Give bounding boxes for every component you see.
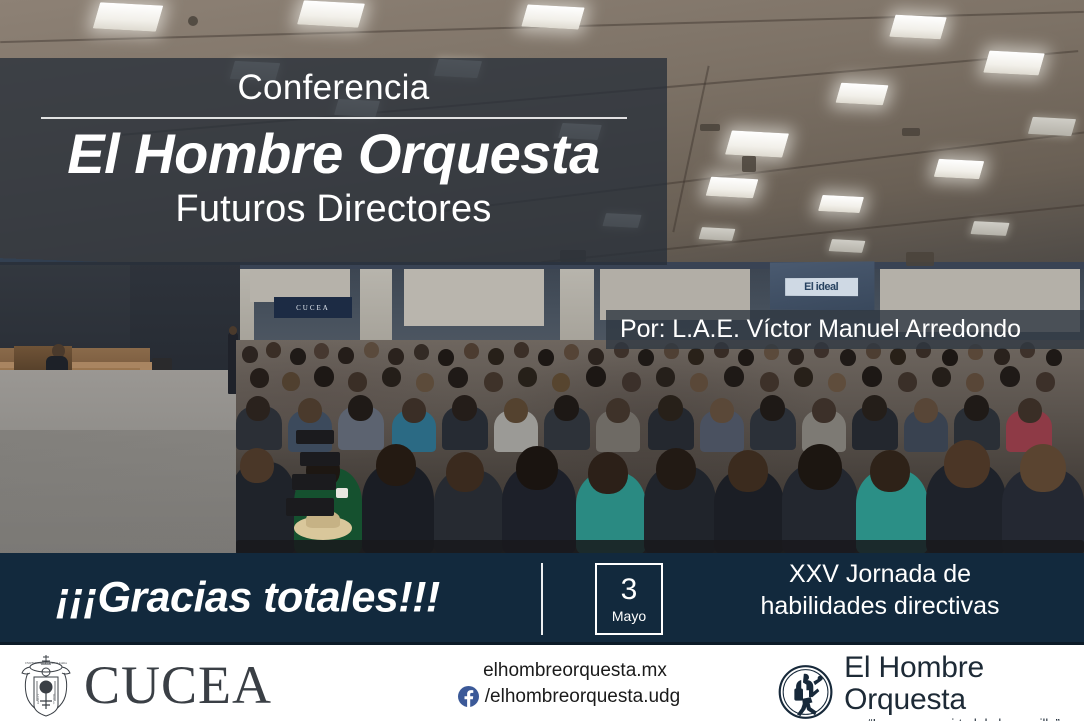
- footer: UNIVERSIDAD DE GUADALAJARA PIENSA Y TRAB…: [0, 648, 1084, 721]
- chair: [300, 452, 340, 466]
- conference-kicker: Conferencia: [237, 68, 429, 108]
- audience-head: [464, 343, 479, 359]
- audience-head: [554, 395, 579, 421]
- chair: [286, 498, 334, 516]
- ceiling-light: [1028, 117, 1076, 136]
- audience-head: [828, 373, 846, 392]
- audience-head: [932, 367, 951, 387]
- audience-head: [1020, 444, 1066, 492]
- title-divider-rule: [41, 117, 627, 119]
- audience-head: [724, 366, 744, 387]
- audience-head: [812, 398, 836, 423]
- audience-head: [438, 349, 454, 366]
- chair: [292, 474, 336, 490]
- audience-head: [338, 347, 354, 364]
- audience-head: [588, 348, 604, 365]
- audience-head: [514, 342, 529, 358]
- audience-head: [942, 349, 958, 366]
- website-url[interactable]: elhombreorquesta.mx: [404, 658, 734, 684]
- audience-head: [246, 396, 270, 421]
- audience-head: [586, 366, 606, 387]
- audience-head: [250, 368, 269, 388]
- ceiling-light: [725, 130, 789, 157]
- brand-tagline: “La suprema virtud de lo sencillo”: [844, 716, 1084, 721]
- ceiling-fixture: [902, 128, 920, 136]
- audience-head: [964, 395, 989, 421]
- ceiling-light: [889, 15, 947, 40]
- audience-head: [898, 372, 917, 392]
- audience-head: [552, 373, 570, 392]
- conference-poster: El ideal ▪▪ CUCEA El ideal: [0, 0, 1084, 721]
- audience-head: [738, 349, 754, 366]
- event-date-box: 3 Mayo: [595, 563, 663, 635]
- ceiling-light: [835, 83, 888, 106]
- speaker-credit-bar: Por: L.A.E. Víctor Manuel Arredondo: [606, 310, 1084, 349]
- audience-head: [564, 344, 579, 360]
- audience-head: [606, 398, 630, 423]
- hall-cucea-banner: CUCEA: [274, 297, 352, 318]
- facebook-icon[interactable]: [458, 686, 479, 707]
- svg-text:UNIVERSIDAD DE GUADALAJARA: UNIVERSIDAD DE GUADALAJARA: [25, 662, 67, 665]
- audience-head: [1046, 349, 1062, 366]
- cucea-logo: UNIVERSIDAD DE GUADALAJARA PIENSA Y TRAB…: [16, 653, 272, 717]
- audience-head: [448, 367, 468, 388]
- ceiling-light: [934, 159, 984, 179]
- contact-group: elhombreorquesta.mx /elhombreorquesta.ud…: [404, 658, 734, 708]
- audience-head: [266, 342, 281, 358]
- ceiling-projector: [742, 156, 756, 172]
- audience-head: [298, 398, 322, 423]
- audience-head: [688, 348, 704, 365]
- audience-head: [1036, 372, 1055, 392]
- audience-head: [452, 395, 477, 421]
- ceiling-light: [521, 4, 584, 29]
- title-overlay-panel: Conferencia El Hombre Orquesta Futuros D…: [0, 58, 667, 265]
- conference-title: El Hombre Orquesta: [67, 123, 599, 186]
- audience-head: [290, 348, 306, 365]
- ceiling-light: [699, 227, 736, 241]
- brand-text: El Hombre Orquesta “La suprema virtud de…: [844, 652, 1084, 721]
- audience-head: [862, 395, 887, 421]
- audience-head: [1018, 398, 1042, 423]
- audience-head: [728, 450, 768, 492]
- audience-head: [870, 450, 910, 492]
- thanks-message: ¡¡¡Gracias totales!!!: [56, 573, 440, 622]
- event-name-line2: habilidades directivas: [700, 590, 1060, 622]
- audience-head: [348, 395, 373, 421]
- audience-head: [788, 348, 804, 365]
- audience-head: [414, 344, 429, 360]
- audience-head: [890, 348, 906, 365]
- wall-panel: [404, 262, 544, 326]
- audience-head: [588, 452, 628, 494]
- vertical-divider: [541, 563, 543, 635]
- ceiling-light: [706, 177, 759, 199]
- brand-logo-group: El Hombre Orquesta “La suprema virtud de…: [778, 652, 1084, 721]
- audience-head: [538, 349, 554, 366]
- audience-head: [376, 444, 416, 486]
- audience-badge: [336, 488, 348, 498]
- ceiling-fixture: [188, 16, 198, 26]
- projection-screen-right: El ideal: [770, 261, 874, 310]
- audience-crowd: [236, 340, 1084, 553]
- audience-head: [364, 342, 379, 358]
- ceiling-light: [983, 51, 1044, 76]
- audience-head: [416, 373, 434, 392]
- speaker-credit-text: Por: L.A.E. Víctor Manuel Arredondo: [620, 315, 1021, 344]
- event-name: XXV Jornada de habilidades directivas: [700, 558, 1060, 622]
- audience-head: [504, 398, 528, 423]
- audience-head: [966, 373, 984, 392]
- audience-head: [914, 398, 938, 423]
- audience-head: [798, 444, 842, 490]
- audience-head: [862, 366, 882, 387]
- audience-head: [656, 448, 696, 490]
- audience-head: [656, 367, 675, 387]
- chair-row: [236, 540, 1084, 553]
- audience-head: [402, 398, 426, 423]
- audience-head: [760, 372, 779, 392]
- audience-head: [240, 448, 274, 483]
- audience-head: [282, 372, 300, 391]
- ceiling-light: [829, 239, 866, 253]
- audience-head: [944, 440, 990, 488]
- audience-head: [794, 367, 813, 387]
- udeg-coat-of-arms-icon: UNIVERSIDAD DE GUADALAJARA PIENSA Y TRAB…: [16, 653, 76, 717]
- ceiling-light: [970, 221, 1009, 236]
- cucea-wordmark: CUCEA: [84, 658, 272, 712]
- audience-head: [484, 372, 503, 392]
- audience-head: [760, 395, 785, 421]
- audience-head: [1000, 366, 1020, 387]
- audience-head: [516, 446, 558, 490]
- facebook-line[interactable]: /elhombreorquesta.udg: [404, 685, 734, 709]
- ceiling-fixture: [700, 124, 720, 131]
- conference-subtitle: Futuros Directores: [175, 188, 491, 231]
- svg-text:TRABAJA: TRABAJA: [52, 694, 55, 705]
- event-date-day: 3: [621, 575, 638, 605]
- brand-name: El Hombre Orquesta: [844, 652, 1084, 715]
- facebook-handle[interactable]: /elhombreorquesta.udg: [485, 685, 680, 709]
- audience-head: [314, 343, 329, 359]
- audience-head: [382, 367, 401, 387]
- audience-head: [710, 398, 734, 423]
- standing-person-head: [229, 326, 237, 335]
- audience-head: [348, 372, 367, 392]
- event-name-line1: XXV Jornada de: [700, 558, 1060, 590]
- audience-head: [314, 366, 334, 387]
- audience-head: [840, 349, 856, 366]
- audience-head: [622, 372, 641, 392]
- audience-head: [638, 349, 654, 366]
- audience-head: [446, 452, 484, 492]
- ceiling-light: [93, 2, 163, 31]
- ceiling-light: [818, 195, 864, 213]
- ceiling-speaker: [906, 252, 934, 266]
- ceiling-light: [297, 0, 365, 27]
- audience-head: [690, 373, 708, 392]
- chair: [296, 430, 334, 444]
- audience-head: [488, 348, 504, 365]
- audience-head: [658, 395, 683, 421]
- audience-head: [388, 348, 404, 365]
- audience-head: [994, 348, 1010, 365]
- event-date-month: Mayo: [612, 608, 646, 624]
- one-man-band-logo-icon: [778, 661, 833, 721]
- svg-text:PIENSA Y: PIENSA Y: [37, 693, 40, 704]
- audience-head: [242, 346, 258, 363]
- screen-right-text: El ideal: [785, 278, 858, 296]
- audience-head: [518, 367, 537, 387]
